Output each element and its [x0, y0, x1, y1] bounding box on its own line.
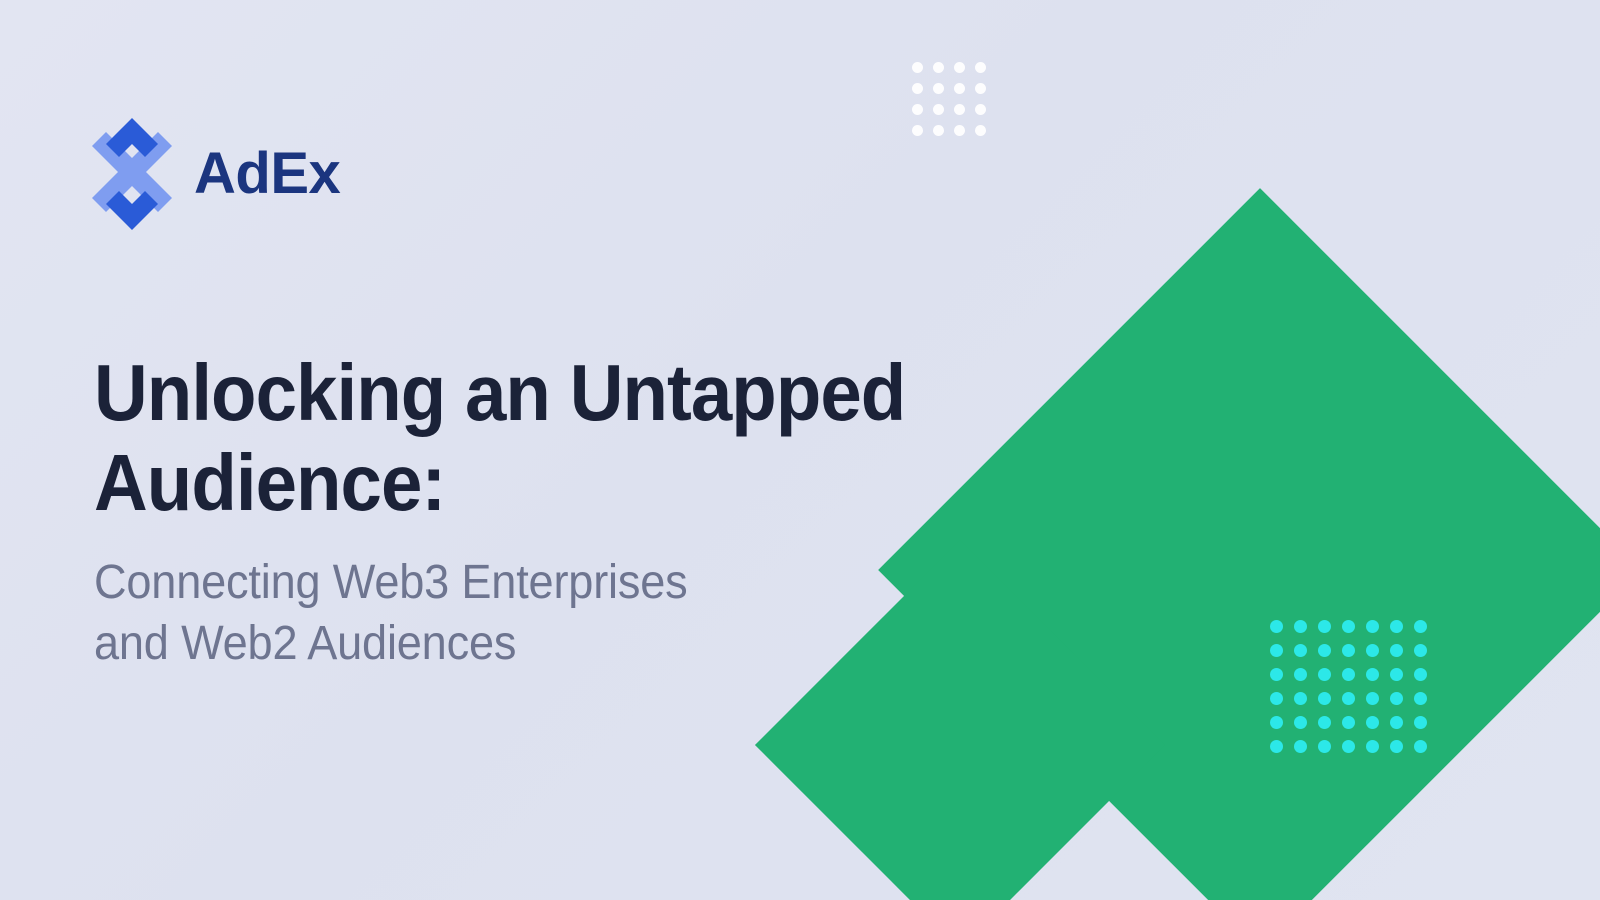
dot: [1366, 716, 1379, 729]
brand-logo-lockup[interactable]: AdEx: [92, 118, 340, 230]
dot: [1270, 716, 1283, 729]
dot: [1342, 692, 1355, 705]
dot: [1414, 740, 1427, 753]
dot: [954, 104, 965, 115]
dot: [975, 83, 986, 94]
dot: [912, 104, 923, 115]
dot: [1318, 692, 1331, 705]
dot: [1294, 716, 1307, 729]
dot: [1366, 620, 1379, 633]
dot: [933, 104, 944, 115]
dot: [912, 83, 923, 94]
cyan-dot-grid: [1270, 620, 1427, 753]
dot: [954, 62, 965, 73]
title-block: Unlocking an Untapped Audience: Connecti…: [94, 348, 994, 674]
dot: [1318, 620, 1331, 633]
dot: [975, 62, 986, 73]
dot: [933, 125, 944, 136]
slide-headline: Unlocking an Untapped Audience:: [94, 348, 931, 527]
dot: [1366, 668, 1379, 681]
white-dot-grid: [912, 62, 986, 136]
dot: [1270, 692, 1283, 705]
dot: [1270, 740, 1283, 753]
dot: [1390, 644, 1403, 657]
dot: [1414, 692, 1427, 705]
dot: [1390, 692, 1403, 705]
dot: [1414, 620, 1427, 633]
dot: [1366, 692, 1379, 705]
dot: [1390, 668, 1403, 681]
dot: [1318, 644, 1331, 657]
dot: [1366, 740, 1379, 753]
dot: [1270, 668, 1283, 681]
dot: [1294, 620, 1307, 633]
dot: [1390, 740, 1403, 753]
dot: [1366, 644, 1379, 657]
dot: [1270, 644, 1283, 657]
dot: [1294, 668, 1307, 681]
dot: [933, 83, 944, 94]
dot: [954, 125, 965, 136]
dot: [1294, 644, 1307, 657]
dot: [1294, 692, 1307, 705]
dot: [1318, 668, 1331, 681]
adex-x-logo-icon: [92, 118, 172, 230]
slide-subheadline: Connecting Web3 Enterprises and Web2 Aud…: [94, 553, 940, 674]
presentation-slide: AdEx Unlocking an Untapped Audience: Con…: [0, 0, 1600, 900]
brand-wordmark: AdEx: [194, 145, 340, 203]
dot: [1270, 620, 1283, 633]
dot: [912, 125, 923, 136]
dot: [1414, 716, 1427, 729]
dot: [1342, 668, 1355, 681]
dot: [954, 83, 965, 94]
dot: [1390, 716, 1403, 729]
dot: [1414, 644, 1427, 657]
dot: [1318, 716, 1331, 729]
dot: [1342, 644, 1355, 657]
dot: [933, 62, 944, 73]
dot: [912, 62, 923, 73]
dot: [975, 104, 986, 115]
dot: [1342, 716, 1355, 729]
dot: [975, 125, 986, 136]
dot: [1414, 668, 1427, 681]
dot: [1342, 620, 1355, 633]
dot: [1342, 740, 1355, 753]
dot: [1390, 620, 1403, 633]
dot: [1294, 740, 1307, 753]
dot: [1318, 740, 1331, 753]
